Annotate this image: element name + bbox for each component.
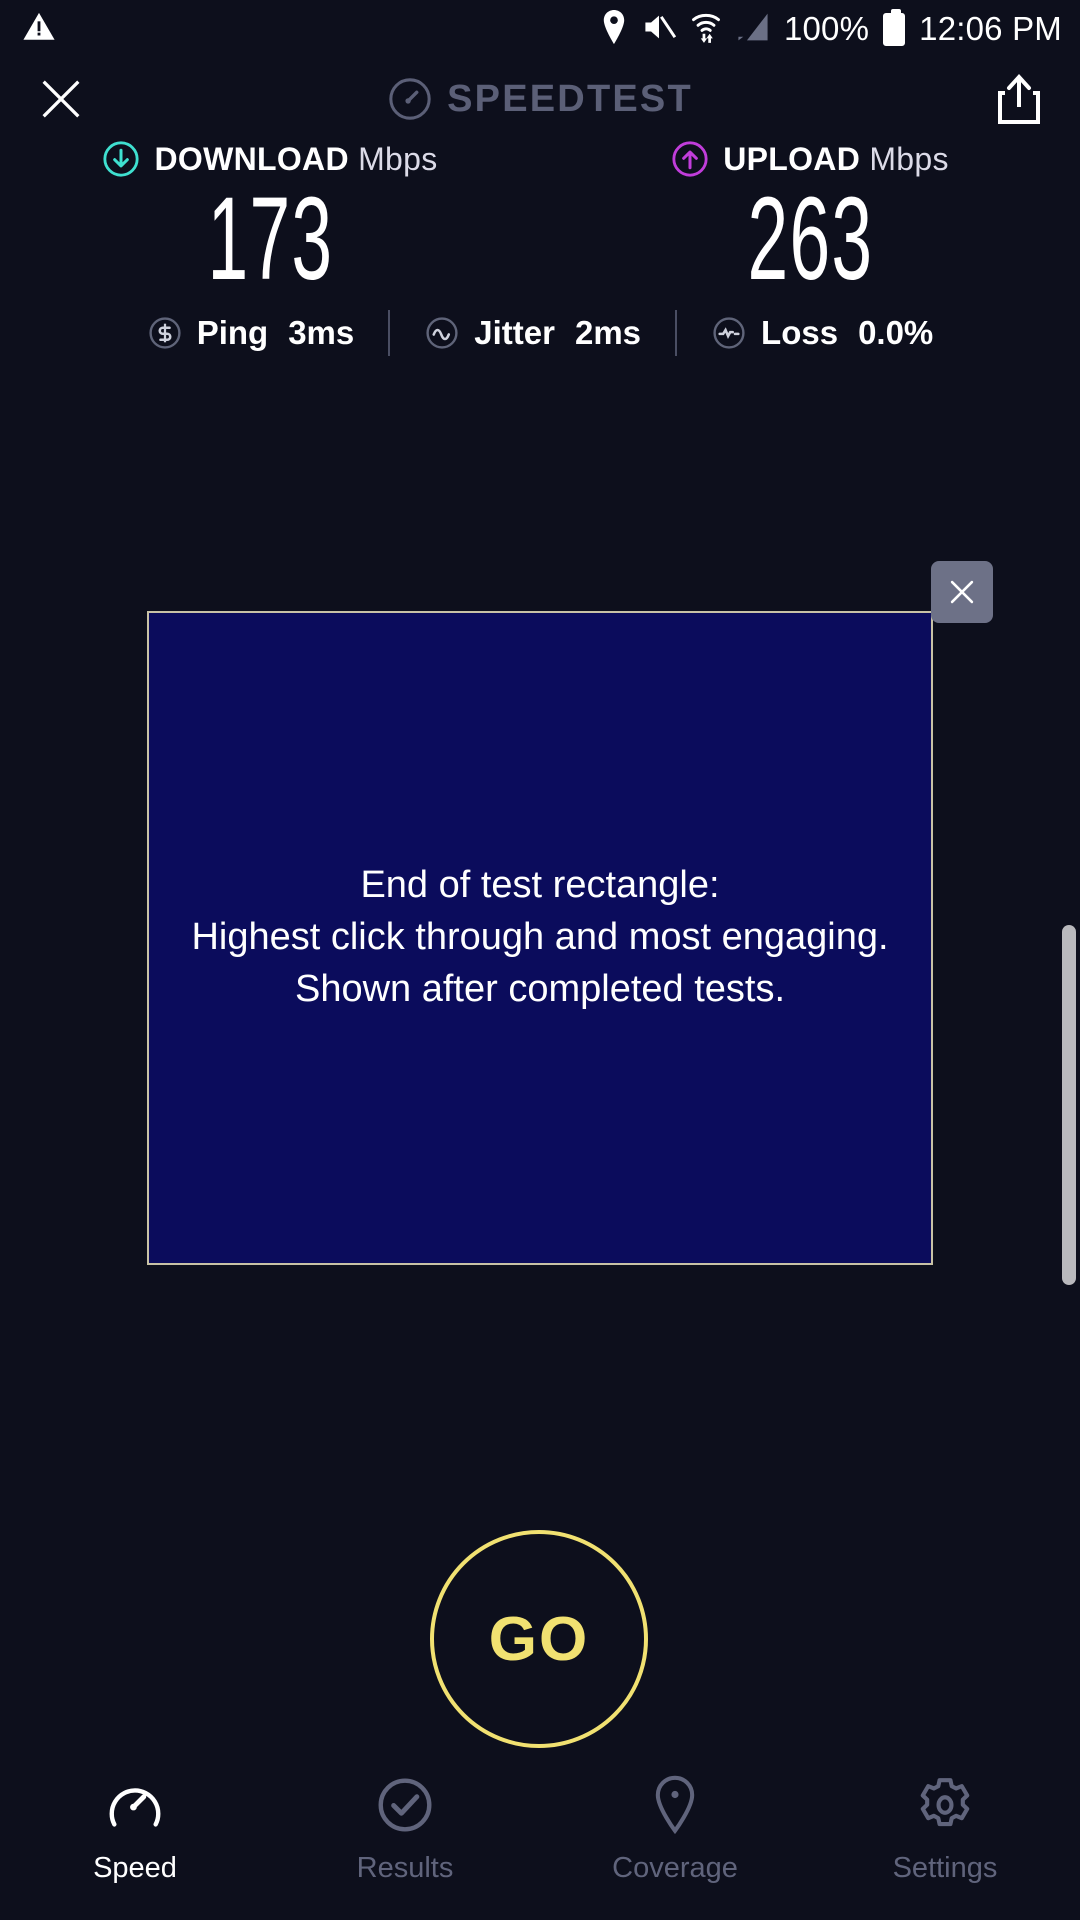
bottom-navigation: Speed Results Coverage Settings	[0, 1760, 1080, 1920]
map-pin-icon	[644, 1774, 706, 1836]
advertisement: End of test rectangle: Highest click thr…	[147, 611, 933, 1265]
page-scrollbar[interactable]	[1062, 925, 1076, 1285]
brand-name: SPEEDTEST	[447, 78, 693, 121]
nav-label-results: Results	[357, 1852, 454, 1885]
metric-ping-value: 3ms	[288, 314, 354, 352]
metric-ping-label: Ping	[197, 314, 269, 352]
metric-ping: Ping 3ms	[113, 314, 389, 352]
close-icon	[945, 575, 979, 609]
nav-label-speed: Speed	[93, 1852, 177, 1885]
download-value: 173	[207, 180, 333, 298]
app-header: SPEEDTEST	[0, 58, 1080, 140]
speedtest-app-screen: 100% 12:06 PM SPEEDTEST	[0, 0, 1080, 1920]
status-bar-right: 100% 12:06 PM	[600, 10, 1062, 49]
ad-banner[interactable]: End of test rectangle: Highest click thr…	[147, 611, 933, 1265]
status-bar-left	[22, 10, 56, 49]
metric-jitter-value: 2ms	[575, 314, 641, 352]
go-button-label: GO	[489, 1604, 589, 1675]
status-bar-clock: 12:06 PM	[919, 10, 1062, 48]
status-bar: 100% 12:06 PM	[0, 0, 1080, 58]
metric-jitter-label: Jitter	[474, 314, 555, 352]
metric-jitter: Jitter 2ms	[390, 314, 675, 352]
nav-label-coverage: Coverage	[612, 1852, 738, 1885]
gear-icon	[914, 1774, 976, 1836]
close-icon	[35, 73, 87, 125]
upload-value: 263	[747, 180, 873, 298]
arrow-up-circle-icon	[671, 140, 709, 178]
nav-item-coverage[interactable]: Coverage	[540, 1774, 810, 1885]
battery-full-icon	[883, 13, 905, 46]
check-circle-icon	[374, 1774, 436, 1836]
ad-text: End of test rectangle: Highest click thr…	[171, 860, 908, 1015]
nav-item-speed[interactable]: Speed	[0, 1774, 270, 1885]
results-panel: DOWNLOAD Mbps 173 UPLOAD Mbps 263	[0, 140, 1080, 298]
metric-loss-value: 0.0%	[858, 314, 933, 352]
ping-icon	[147, 315, 183, 351]
network-metrics-row: Ping 3ms Jitter 2ms Loss 0.0%	[0, 310, 1080, 356]
ad-close-button[interactable]	[931, 561, 993, 623]
share-icon	[996, 73, 1042, 125]
download-result: DOWNLOAD Mbps 173	[0, 140, 540, 298]
share-button[interactable]	[988, 68, 1050, 130]
warning-triangle-icon	[22, 10, 56, 49]
cellular-signal-icon	[736, 11, 770, 48]
close-button[interactable]	[30, 68, 92, 130]
metric-loss: Loss 0.0%	[677, 314, 967, 352]
arrow-down-circle-icon	[102, 140, 140, 178]
nav-item-settings[interactable]: Settings	[810, 1774, 1080, 1885]
speedometer-icon	[104, 1774, 166, 1836]
upload-result: UPLOAD Mbps 263	[540, 140, 1080, 298]
loss-icon	[711, 315, 747, 351]
nav-label-settings: Settings	[893, 1852, 998, 1885]
speedometer-icon	[387, 76, 433, 122]
upload-label: UPLOAD Mbps	[723, 141, 949, 178]
jitter-icon	[424, 315, 460, 351]
mute-icon	[642, 12, 676, 47]
battery-percent-label: 100%	[784, 10, 869, 48]
go-button[interactable]: GO	[430, 1530, 648, 1748]
metric-loss-label: Loss	[761, 314, 838, 352]
speed-results-row: DOWNLOAD Mbps 173 UPLOAD Mbps 263	[0, 140, 1080, 298]
nav-item-results[interactable]: Results	[270, 1774, 540, 1885]
brand-logo: SPEEDTEST	[0, 58, 1080, 140]
download-label: DOWNLOAD Mbps	[154, 141, 437, 178]
location-pin-icon	[600, 10, 628, 49]
wifi-icon	[690, 10, 722, 49]
